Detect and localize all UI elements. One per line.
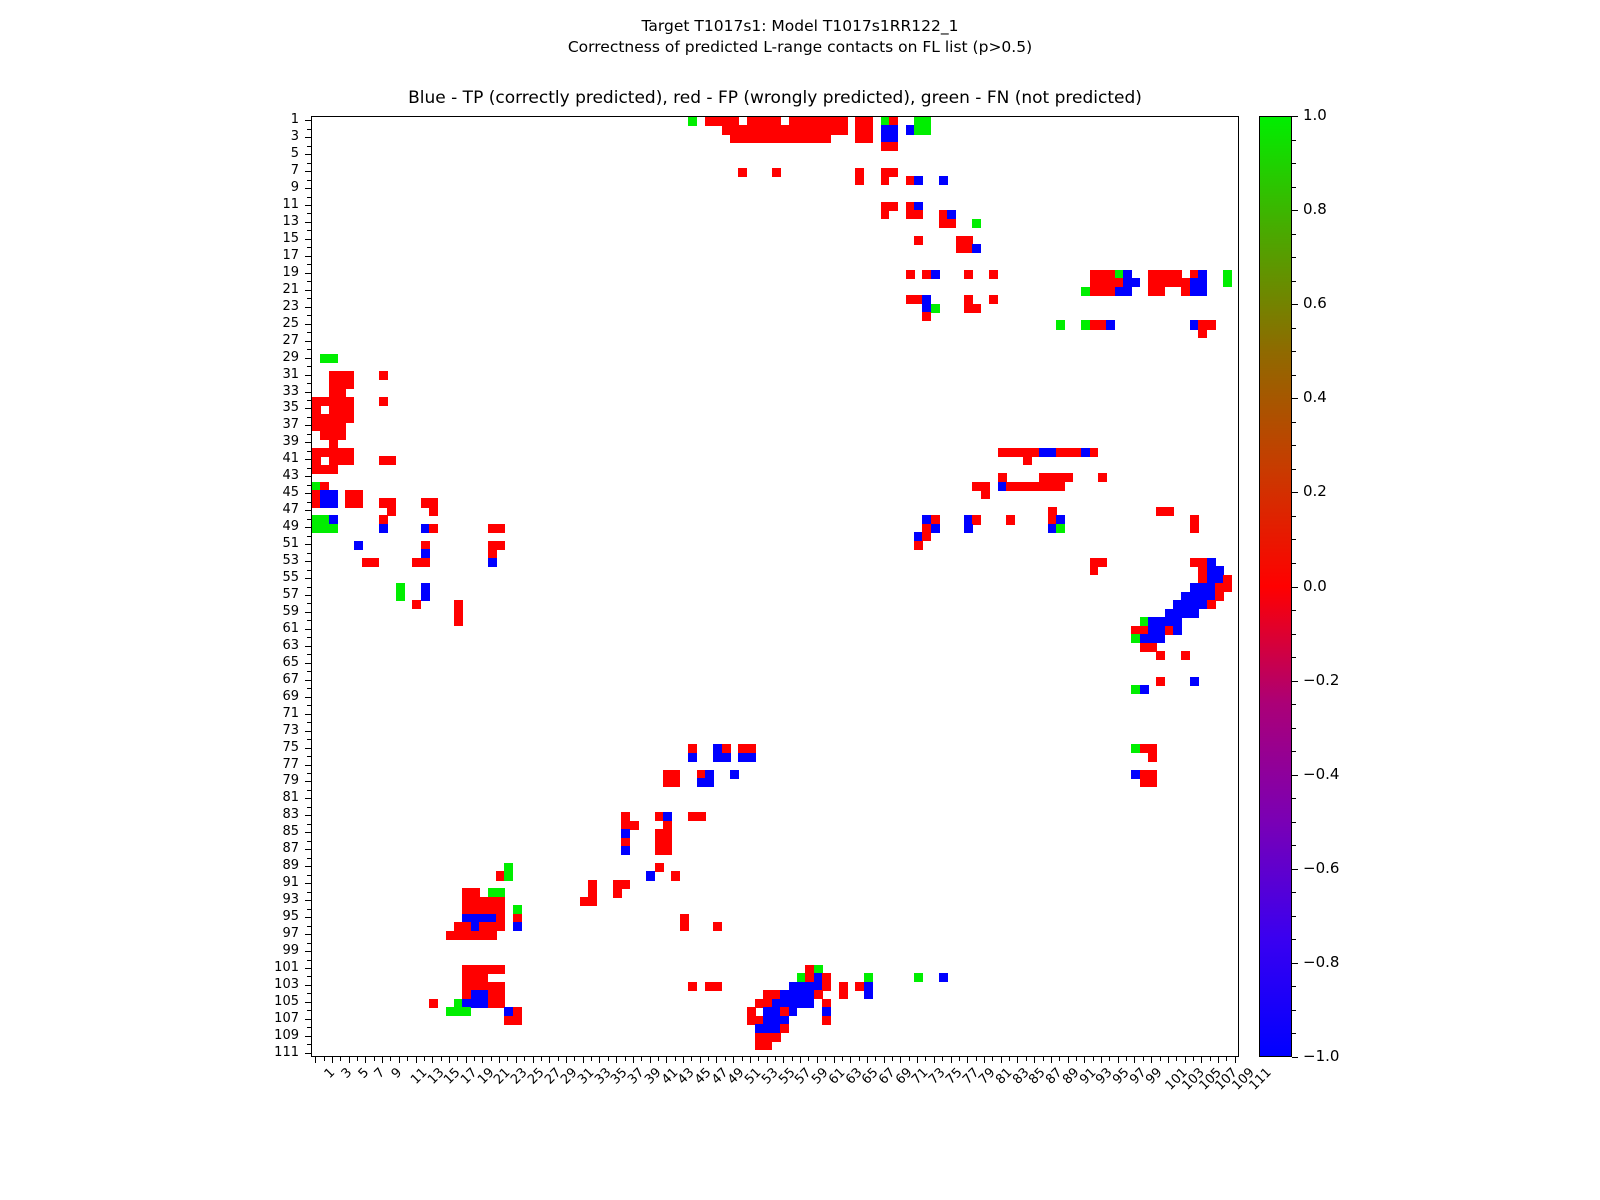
y-tick-label: 93 [253,893,299,906]
colorbar-minor-tick [1292,281,1296,282]
y-tick-label: 7 [253,164,299,177]
colorbar-minor-tick [1292,375,1296,376]
heatmap-cell [613,888,622,897]
x-tick-mark [432,1057,433,1063]
heatmap-cell [1148,778,1157,787]
y-tick-mark [307,349,311,350]
heatmap-cell [713,922,722,931]
colorbar-minor-tick [1292,257,1296,258]
colorbar-tick-mark [1292,681,1298,682]
y-tick-mark [305,273,311,274]
x-tick-mark [1126,1057,1127,1061]
y-tick-label: 41 [253,452,299,465]
x-tick-mark [1218,1057,1219,1063]
heatmap-cell [671,871,680,880]
colorbar-minor-tick [1292,1010,1296,1011]
heatmap-cell [1056,482,1065,491]
y-tick-mark [305,883,311,884]
x-tick-mark [524,1057,525,1061]
y-tick-mark [307,637,311,638]
heatmap-cell [504,871,513,880]
x-tick-mark [1160,1057,1161,1061]
colorbar-tick-label: 0.0 [1303,579,1327,594]
heatmap-cell [621,846,630,855]
x-tick-mark [1134,1057,1135,1063]
y-tick-mark [307,1010,311,1011]
y-tick-mark [307,468,311,469]
y-tick-mark [307,1044,311,1045]
heatmap-cell [1190,524,1199,533]
y-tick-label: 25 [253,317,299,330]
heatmap-cell [1223,278,1232,287]
heatmap-cell [839,125,848,134]
x-tick-mark [892,1057,893,1061]
y-tick-label: 109 [253,1029,299,1042]
y-tick-label: 71 [253,707,299,720]
heatmap-cell [789,1007,798,1016]
colorbar-minor-tick [1292,563,1296,564]
x-tick-mark [449,1057,450,1063]
heatmap-cell [947,219,956,228]
y-tick-label: 59 [253,605,299,618]
heatmap-cell [722,753,731,762]
heatmap-cell [1165,507,1174,516]
colorbar-tick-mark [1292,210,1298,211]
y-tick-mark [307,824,311,825]
x-tick-mark [808,1057,809,1061]
y-tick-mark [307,298,311,299]
colorbar-minor-tick [1292,916,1296,917]
y-tick-mark [307,756,311,757]
x-tick-mark [775,1057,776,1061]
y-tick-label: 29 [253,351,299,364]
colorbar-tick-mark [1292,1057,1298,1058]
colorbar-tick-mark [1292,304,1298,305]
y-tick-mark [305,188,311,189]
heatmap-cell [1064,473,1073,482]
heatmap-cell [889,168,898,177]
heatmap-cell [496,922,505,931]
y-tick-mark [307,536,311,537]
y-tick-mark [305,120,311,121]
y-tick-label: 97 [253,927,299,940]
heatmap-cell [747,753,756,762]
x-tick-mark [683,1057,684,1063]
heatmap-cell [337,431,346,440]
axes-title-legend: Blue - TP (correctly predicted), red - F… [311,88,1239,108]
x-tick-mark [390,1057,391,1061]
x-tick-mark [1235,1057,1236,1063]
y-tick-mark [305,595,311,596]
y-tick-mark [307,247,311,248]
x-tick-mark [641,1057,642,1061]
y-tick-label: 105 [253,995,299,1008]
heatmap-cell [855,176,864,185]
heatmap-cell [1207,600,1216,609]
colorbar-minor-tick [1292,610,1296,611]
heatmap-cell [387,507,396,516]
x-tick-mark [315,1057,316,1063]
heatmap-cell [964,270,973,279]
y-tick-mark [307,620,311,621]
x-tick-mark [1101,1057,1102,1063]
y-tick-label: 31 [253,368,299,381]
x-tick-mark [900,1057,901,1063]
heatmap-cell [805,999,814,1008]
x-tick-mark [1193,1057,1194,1061]
heatmap-cell [922,532,931,541]
y-tick-mark [305,561,311,562]
heatmap-cell [646,871,655,880]
y-tick-label: 51 [253,537,299,550]
colorbar-tick-mark [1292,587,1298,588]
y-tick-mark [307,146,311,147]
x-tick-mark [984,1057,985,1063]
y-tick-label: 73 [253,724,299,737]
heatmap-cell [513,1016,522,1025]
x-tick-mark [716,1057,717,1063]
y-tick-mark [305,866,311,867]
colorbar-minor-tick [1292,751,1296,752]
heatmap-cell [354,541,363,550]
y-tick-mark [305,731,311,732]
heatmap-cell [345,380,354,389]
y-tick-label: 77 [253,758,299,771]
heatmap-cell [1056,524,1065,533]
heatmap-cell [379,397,388,406]
heatmap-cell [972,304,981,313]
heatmap-cell [1215,592,1224,601]
y-tick-label: 103 [253,978,299,991]
colorbar-minor-tick [1292,351,1296,352]
y-tick-mark [307,993,311,994]
heatmap-cell [864,990,873,999]
x-tick-mark [942,1057,943,1061]
x-tick-label: 9 [389,1066,404,1081]
colorbar-minor-tick [1292,822,1296,823]
x-tick-mark [399,1057,400,1063]
colorbar-minor-tick [1292,140,1296,141]
heatmap-cell [939,973,948,982]
y-tick-mark [307,807,311,808]
heatmap-cell [1090,448,1099,457]
y-tick-mark [305,459,311,460]
x-tick-mark [742,1057,743,1061]
x-tick-mark [1210,1057,1211,1061]
y-tick-mark [307,230,311,231]
y-tick-mark [307,180,311,181]
heatmap-cell [931,304,940,313]
heatmap-cell [906,270,915,279]
y-tick-mark [307,841,311,842]
heatmap-cell [1106,320,1115,329]
y-tick-mark [307,909,311,910]
heatmap-cell [329,524,338,533]
heatmap-cell [1198,287,1207,296]
x-tick-mark [875,1057,876,1061]
colorbar-minor-tick [1292,892,1296,893]
y-tick-label: 101 [253,961,299,974]
heatmap-cell [1098,473,1107,482]
colorbar-tick-mark [1292,492,1298,493]
x-tick-mark [834,1057,835,1063]
x-tick-mark [884,1057,885,1063]
heatmap-cell [705,778,714,787]
x-tick-mark [482,1057,483,1063]
x-tick-mark [574,1057,575,1061]
heatmap-cell [972,219,981,228]
colorbar-minor-tick [1292,634,1296,635]
y-tick-mark [307,553,311,554]
heatmap-cell [972,515,981,524]
x-tick-mark [1093,1057,1094,1061]
heatmap-cell [462,1007,471,1016]
x-tick-mark [541,1057,542,1061]
y-tick-mark [305,493,311,494]
heatmap-cell [488,558,497,567]
heatmap-cell [1148,753,1157,762]
y-tick-mark [305,968,311,969]
heatmap-cell [1131,278,1140,287]
y-tick-mark [307,603,311,604]
heatmap-cell [914,210,923,219]
colorbar-gradient [1259,116,1292,1057]
x-tick-mark [758,1057,759,1061]
y-tick-mark [305,222,311,223]
y-tick-mark [305,375,311,376]
y-tick-mark [305,1019,311,1020]
x-tick-mark [374,1057,375,1061]
heatmap-cell [345,414,354,423]
heatmap-cell [1140,685,1149,694]
x-tick-mark [507,1057,508,1061]
x-tick-mark [516,1057,517,1063]
heatmap-cell [939,176,948,185]
y-tick-mark [305,171,311,172]
contact-map-plot[interactable] [311,116,1239,1057]
y-tick-mark [307,773,311,774]
x-tick-mark [1076,1057,1077,1061]
y-tick-mark [305,137,311,138]
y-tick-label: 89 [253,859,299,872]
heatmap-cell [839,990,848,999]
heatmap-cell [763,1041,772,1050]
y-tick-mark [307,1027,311,1028]
y-tick-label: 3 [253,130,299,143]
x-tick-mark [800,1057,801,1063]
x-tick-mark [1034,1057,1035,1063]
x-tick-mark [533,1057,534,1063]
colorbar-minor-tick [1292,516,1296,517]
heatmap-cell [964,524,973,533]
y-tick-mark [305,1002,311,1003]
x-tick-mark [666,1057,667,1063]
heatmap-cell [429,524,438,533]
colorbar-tick-mark [1292,398,1298,399]
y-tick-label: 5 [253,147,299,160]
y-tick-mark [305,425,311,426]
y-tick-mark [307,213,311,214]
x-tick-mark [725,1057,726,1061]
y-tick-mark [307,434,311,435]
x-tick-mark [1059,1057,1060,1061]
heatmap-cell [329,465,338,474]
y-tick-mark [305,1053,311,1054]
heatmap-cell [329,354,338,363]
heatmap-cell [780,1024,789,1033]
heatmap-cell [772,168,781,177]
y-tick-mark [305,341,311,342]
heatmap-cell [822,982,831,991]
x-tick-mark [976,1057,977,1061]
y-tick-mark [307,926,311,927]
x-tick-mark [1109,1057,1110,1061]
x-tick-mark [416,1057,417,1063]
heatmap-cell [822,1016,831,1025]
x-tick-mark [1118,1057,1119,1063]
colorbar-tick-label: 0.4 [1303,390,1327,405]
heatmap-cell [1156,677,1165,686]
colorbar-tick-mark [1292,963,1298,964]
y-tick-mark [307,502,311,503]
heatmap-cell [329,498,338,507]
heatmap-cell [922,125,931,134]
x-tick-label: 7 [373,1066,388,1081]
y-tick-mark [305,476,311,477]
x-tick-mark [1151,1057,1152,1063]
x-tick-mark [1026,1057,1027,1061]
x-tick-mark [625,1057,626,1061]
colorbar-minor-tick [1292,422,1296,423]
y-tick-mark [305,815,311,816]
x-tick-mark [675,1057,676,1061]
y-tick-label: 63 [253,639,299,652]
x-tick-mark [608,1057,609,1061]
x-tick-mark [474,1057,475,1061]
heatmap-cell [889,142,898,151]
y-tick-mark [307,315,311,316]
y-tick-mark [307,654,311,655]
heatmap-cell [354,498,363,507]
y-tick-label: 91 [253,876,299,889]
x-tick-mark [934,1057,935,1063]
y-tick-mark [305,832,311,833]
y-tick-mark [305,798,311,799]
x-tick-mark [733,1057,734,1063]
y-tick-label: 83 [253,808,299,821]
y-tick-mark [307,892,311,893]
y-tick-mark [305,392,311,393]
heatmap-cell [1056,320,1065,329]
y-tick-label: 75 [253,741,299,754]
x-tick-mark [700,1057,701,1063]
heatmap-cell [1123,287,1132,296]
heatmap-cell [396,592,405,601]
y-tick-mark [307,383,311,384]
y-tick-mark [305,714,311,715]
x-tick-mark [382,1057,383,1063]
y-tick-label: 43 [253,469,299,482]
x-tick-mark [558,1057,559,1061]
x-tick-mark [783,1057,784,1063]
heatmap-cell [1156,287,1165,296]
y-tick-mark [305,578,311,579]
x-tick-mark [457,1057,458,1061]
x-tick-label: 99 [1144,1066,1165,1087]
x-tick-mark [850,1057,851,1063]
colorbar-tick-label: −0.2 [1303,673,1339,688]
x-tick-mark [349,1057,350,1063]
heatmap-cell [738,168,747,177]
colorbar-tick-label: −1.0 [1303,1049,1339,1064]
y-tick-mark [305,900,311,901]
x-tick-mark [767,1057,768,1063]
x-tick-mark [1168,1057,1169,1063]
colorbar-minor-tick [1292,657,1296,658]
heatmap-cell [1156,651,1165,660]
colorbar-minor-tick [1292,469,1296,470]
heatmap-cell [379,524,388,533]
colorbar-minor-tick [1292,845,1296,846]
y-tick-mark [305,358,311,359]
y-tick-mark [307,976,311,977]
x-tick-mark [708,1057,709,1061]
y-tick-label: 61 [253,622,299,635]
colorbar-tick-mark [1292,116,1298,117]
y-tick-label: 15 [253,232,299,245]
x-tick-mark [591,1057,592,1061]
heatmap-cell [513,922,522,931]
y-tick-mark [305,849,311,850]
suptitle-line-1: Target T1017s1: Model T1017s1RR122_1 [0,16,1600,37]
y-tick-label: 79 [253,774,299,787]
heatmap-cell [688,753,697,762]
y-tick-mark [307,417,311,418]
heatmap-cell [454,617,463,626]
y-tick-label: 27 [253,334,299,347]
colorbar-tick-label: 0.2 [1303,484,1327,499]
y-tick-mark [305,527,311,528]
x-tick-mark [566,1057,567,1063]
y-tick-mark [305,442,311,443]
y-tick-mark [307,163,311,164]
heatmap-cell [345,456,354,465]
y-tick-mark [307,366,311,367]
x-tick-label: 3 [339,1066,354,1081]
y-tick-mark [307,400,311,401]
y-tick-label: 13 [253,215,299,228]
heatmap-cell [1198,329,1207,338]
y-tick-label: 107 [253,1012,299,1025]
x-tick-mark [491,1057,492,1061]
heatmap-cell [1006,515,1015,524]
heatmap-cell [421,558,430,567]
x-tick-mark [583,1057,584,1063]
x-tick-mark [825,1057,826,1061]
x-tick-mark [951,1057,952,1063]
y-tick-label: 11 [253,198,299,211]
y-tick-mark [307,197,311,198]
x-tick-mark [357,1057,358,1061]
y-tick-label: 23 [253,300,299,313]
heatmap-cell [1190,609,1199,618]
y-tick-mark [305,408,311,409]
y-tick-mark [307,332,311,333]
heatmap-cell [1173,626,1182,635]
colorbar-tick-label: −0.6 [1303,861,1339,876]
x-tick-mark [817,1057,818,1063]
x-tick-mark [842,1057,843,1061]
